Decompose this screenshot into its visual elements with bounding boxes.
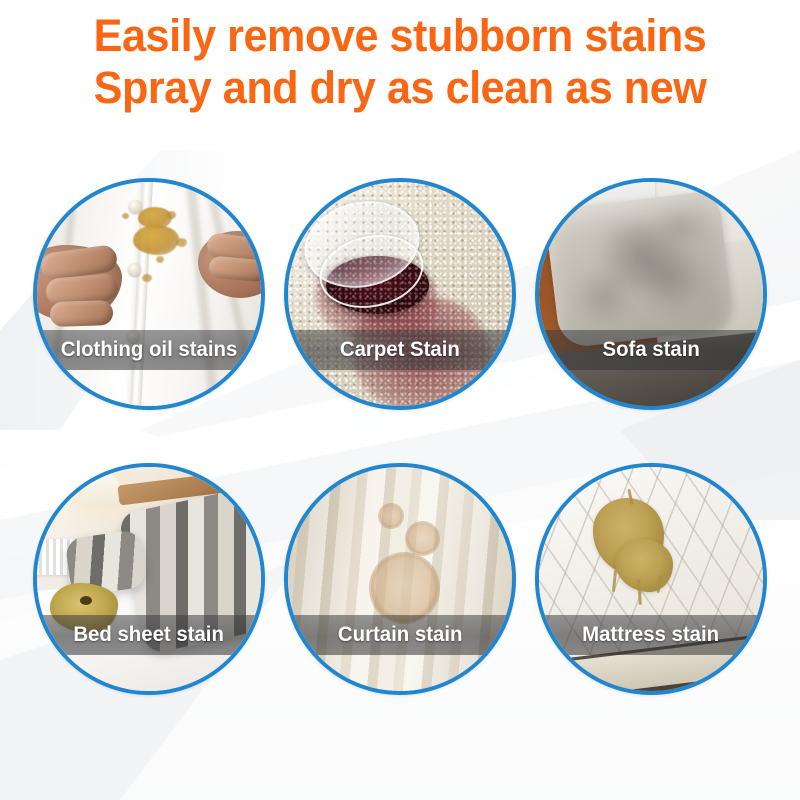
promo-banner: Easily remove stubborn stains Spray and … xyxy=(0,0,800,800)
headline-line-1: Easily remove stubborn stains xyxy=(16,10,784,62)
caption-label: Bed sheet stain xyxy=(74,624,225,646)
caption-band-clothing-oil-stains: Clothing oil stains xyxy=(37,330,261,370)
caption-label: Carpet Stain xyxy=(340,339,460,361)
caption-band-carpet-stain: Carpet Stain xyxy=(288,330,512,370)
caption-band-bed-sheet-stain: Bed sheet stain xyxy=(37,615,261,655)
stain-card-carpet-stain[interactable]: Carpet Stain xyxy=(284,178,516,410)
photo-clothing-oil-stains xyxy=(37,182,261,406)
photo-carpet-stain xyxy=(288,182,512,406)
caption-label: Sofa stain xyxy=(602,339,699,361)
stain-card-clothing-oil-stains[interactable]: Clothing oil stains xyxy=(33,178,265,410)
stain-card-sofa-stain[interactable]: Sofa stain xyxy=(535,178,767,410)
photo-curtain-stain xyxy=(288,467,512,691)
caption-label: Curtain stain xyxy=(338,624,463,646)
caption-label: Mattress stain xyxy=(583,624,720,646)
stain-type-grid: Clothing oil stains Carpet Stain xyxy=(0,0,800,800)
stain-card-curtain-stain[interactable]: Curtain stain xyxy=(284,463,516,695)
caption-band-sofa-stain: Sofa stain xyxy=(539,330,763,370)
photo-sofa-stain xyxy=(539,182,763,406)
stain-card-bed-sheet-stain[interactable]: Bed sheet stain xyxy=(33,463,265,695)
caption-band-curtain-stain: Curtain stain xyxy=(288,615,512,655)
photo-bed-sheet-stain xyxy=(37,467,261,691)
photo-mattress-stain xyxy=(539,467,763,691)
caption-label: Clothing oil stains xyxy=(61,339,238,361)
stain-card-mattress-stain[interactable]: Mattress stain xyxy=(535,463,767,695)
headline: Easily remove stubborn stains Spray and … xyxy=(0,10,800,114)
headline-line-2: Spray and dry as clean as new xyxy=(16,62,784,114)
caption-band-mattress-stain: Mattress stain xyxy=(539,615,763,655)
